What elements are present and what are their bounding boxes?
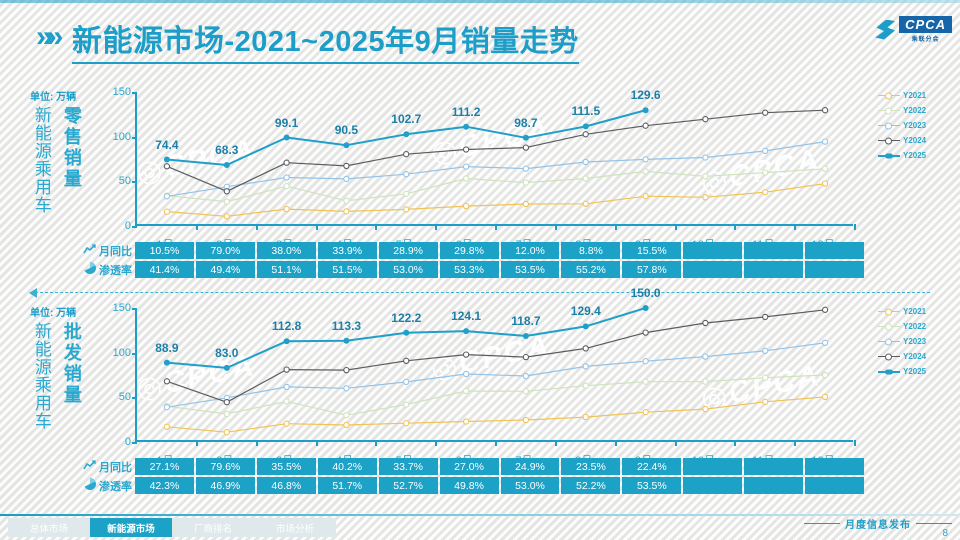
data-label-Y2025-1月: 74.4 <box>155 138 178 152</box>
legend-label-Y2021: Y2021 <box>903 91 926 100</box>
table-cell: 15.5% <box>622 242 681 259</box>
series-point-Y2025 <box>403 131 409 137</box>
series-point-Y2021 <box>164 209 169 214</box>
table-cell: 24.9% <box>501 458 560 475</box>
footer-tab-3[interactable]: 市场分析 <box>254 518 336 537</box>
table-cell: 33.7% <box>379 458 438 475</box>
table-cell: 41.4% <box>135 261 194 278</box>
series-point-Y2024 <box>763 314 768 319</box>
series-point-Y2023 <box>164 194 169 199</box>
line-chart-icon <box>83 244 96 258</box>
footer-tab-0[interactable]: 总体市场 <box>8 518 90 537</box>
series-point-Y2023 <box>823 340 828 345</box>
series-point-Y2024 <box>643 330 648 335</box>
series-point-Y2022 <box>583 176 588 181</box>
series-point-Y2021 <box>224 430 229 435</box>
series-point-Y2024 <box>643 123 648 128</box>
retail-chart: 05010015074.468.399.190.5102.7111.298.71… <box>105 84 865 239</box>
table-cell: 35.5% <box>257 458 316 475</box>
table-cell: 27.0% <box>440 458 499 475</box>
series-point-Y2025 <box>403 330 409 336</box>
series-point-Y2025 <box>643 107 649 113</box>
series-point-Y2025 <box>343 338 349 344</box>
series-point-Y2022 <box>643 379 648 384</box>
slide-footer: 总体市场新能源市场厂商排名市场分析 月度信息发布 8 <box>0 514 960 540</box>
table-cell <box>683 242 742 259</box>
legend-label-Y2024: Y2024 <box>903 352 926 361</box>
wholesale-data-table: 月同比27.1%79.6%35.5%40.2%33.7%27.0%24.9%23… <box>64 458 864 496</box>
series-point-Y2022 <box>823 166 828 171</box>
series-point-Y2024 <box>464 147 469 152</box>
series-point-Y2022 <box>404 402 409 407</box>
series-point-Y2023 <box>284 384 289 389</box>
y-tick-label: 50 <box>119 391 131 403</box>
legend-item-Y2025[interactable]: Y2025 <box>878 364 926 379</box>
y-tick-label: 150 <box>113 302 131 314</box>
y-tick-label: 100 <box>113 347 131 359</box>
data-label-Y2025-8月: 129.4 <box>571 304 601 318</box>
footer-tab-1[interactable]: 新能源市场 <box>90 518 172 537</box>
table-cell <box>683 261 742 278</box>
series-point-Y2025 <box>343 142 349 148</box>
page-title-primary: 新能源市场 <box>72 25 225 58</box>
series-point-Y2022 <box>344 413 349 418</box>
table-cell: 53.0% <box>379 261 438 278</box>
series-point-Y2025 <box>643 305 649 311</box>
series-point-Y2025 <box>284 135 290 141</box>
series-point-Y2021 <box>643 410 648 415</box>
series-point-Y2024 <box>164 379 169 384</box>
series-point-Y2025 <box>463 124 469 130</box>
series-point-Y2022 <box>224 411 229 416</box>
legend-swatch-Y2025 <box>878 155 900 157</box>
data-label-Y2025-6月: 111.2 <box>452 105 481 119</box>
series-point-Y2022 <box>284 184 289 189</box>
table-cell: 51.5% <box>318 261 377 278</box>
data-label-Y2025-6月: 124.1 <box>451 309 481 323</box>
legend-label-Y2022: Y2022 <box>903 322 926 331</box>
data-label-Y2025-9月: 150.0 <box>631 286 661 300</box>
cpca-logo-subtext: 乘联分会 <box>912 34 940 43</box>
series-point-Y2025 <box>523 135 529 141</box>
y-tick-label: 50 <box>119 175 131 187</box>
pie-chart-icon <box>84 478 96 493</box>
data-label-Y2025-2月: 83.0 <box>215 346 238 360</box>
series-point-Y2025 <box>164 360 170 366</box>
legend-item-Y2022[interactable]: Y2022 <box>878 319 926 334</box>
table-cell: 52.2% <box>561 477 620 494</box>
wholesale-vertical-label-metric: 批发销量 <box>62 322 81 406</box>
series-point-Y2021 <box>464 204 469 209</box>
footer-dash-right <box>916 523 952 524</box>
slide-header: »» 新能源市场-2021~2025年9月销量走势 CPCA 乘联分会 <box>0 6 960 62</box>
table-row: 月同比27.1%79.6%35.5%40.2%33.7%27.0%24.9%23… <box>64 458 864 475</box>
series-point-Y2024 <box>464 352 469 357</box>
retail-plot-area: 05010015074.468.399.190.5102.7111.298.71… <box>135 92 853 226</box>
series-point-Y2024 <box>284 367 289 372</box>
series-point-Y2022 <box>703 174 708 179</box>
wholesale-series-svg <box>137 308 855 442</box>
series-point-Y2021 <box>763 190 768 195</box>
series-point-Y2022 <box>643 169 648 174</box>
row-label-月同比: 月同比 <box>64 458 135 475</box>
series-point-Y2024 <box>763 110 768 115</box>
row-label-text: 月同比 <box>99 459 132 475</box>
table-cell: 23.5% <box>561 458 620 475</box>
legend-label-Y2023: Y2023 <box>903 337 926 346</box>
footer-tab-bar[interactable]: 总体市场新能源市场厂商排名市场分析 <box>8 518 336 537</box>
series-point-Y2025 <box>224 365 230 371</box>
table-cell: 40.2% <box>318 458 377 475</box>
legend-swatch-Y2023 <box>878 341 900 342</box>
page-title: 新能源市场-2021~2025年9月销量走势 <box>72 16 579 64</box>
series-point-Y2022 <box>583 383 588 388</box>
series-point-Y2021 <box>583 415 588 420</box>
table-cell: 46.8% <box>257 477 316 494</box>
data-label-Y2025-3月: 112.8 <box>272 319 301 333</box>
table-cell: 55.2% <box>561 261 620 278</box>
legend-item-Y2025[interactable]: Y2025 <box>878 148 926 163</box>
series-point-Y2024 <box>523 145 528 150</box>
row-label-渗透率: 渗透率 <box>64 477 135 494</box>
series-point-Y2025 <box>523 333 529 339</box>
wholesale-plot-area: 05010015088.983.0112.8113.3122.2124.1118… <box>135 308 853 442</box>
table-cell <box>683 458 742 475</box>
series-point-Y2022 <box>763 375 768 380</box>
series-line-Y2022 <box>167 169 825 202</box>
series-point-Y2021 <box>703 407 708 412</box>
table-cell: 33.9% <box>318 242 377 259</box>
legend-swatch-Y2024 <box>878 356 900 357</box>
double-chevron-right-icon: »» <box>36 20 57 54</box>
series-point-Y2024 <box>523 355 528 360</box>
series-point-Y2023 <box>643 157 648 162</box>
wholesale-legend: Y2021Y2022Y2023Y2024Y2025 <box>878 304 926 379</box>
table-cell: 46.9% <box>196 477 255 494</box>
series-point-Y2023 <box>823 139 828 144</box>
row-label-渗透率: 渗透率 <box>64 261 135 278</box>
series-point-Y2023 <box>464 371 469 376</box>
series-point-Y2023 <box>763 348 768 353</box>
legend-swatch-Y2022 <box>878 110 900 111</box>
table-cell: 53.0% <box>501 477 560 494</box>
table-cell: 27.1% <box>135 458 194 475</box>
table-cell <box>744 242 803 259</box>
table-cell <box>805 458 864 475</box>
panel-wholesale: 单位: 万辆新能源乘用车批发销量◎CPCA◎CPCA◎CPCA050100150… <box>0 300 960 500</box>
table-cell <box>805 477 864 494</box>
series-line-Y2023 <box>167 142 825 197</box>
data-label-Y2025-8月: 111.5 <box>571 104 600 118</box>
table-cell <box>744 477 803 494</box>
series-point-Y2024 <box>703 117 708 122</box>
series-point-Y2025 <box>284 338 290 344</box>
series-point-Y2023 <box>344 386 349 391</box>
panel-separator <box>30 292 930 293</box>
page-number: 8 <box>942 528 948 539</box>
row-label-月同比: 月同比 <box>64 242 135 259</box>
data-label-Y2025-4月: 90.5 <box>335 123 358 137</box>
table-cell: 53.5% <box>622 477 681 494</box>
series-point-Y2021 <box>404 207 409 212</box>
series-point-Y2025 <box>164 157 170 163</box>
series-point-Y2023 <box>583 364 588 369</box>
series-point-Y2024 <box>224 189 229 194</box>
y-tick-label: 150 <box>113 86 131 98</box>
series-point-Y2024 <box>344 163 349 168</box>
table-cell: 52.7% <box>379 477 438 494</box>
series-point-Y2021 <box>703 195 708 200</box>
series-point-Y2021 <box>763 399 768 404</box>
retail-vertical-label-metric: 零售销量 <box>62 106 81 190</box>
row-label-text: 渗透率 <box>99 262 132 278</box>
series-point-Y2023 <box>344 176 349 181</box>
legend-swatch-Y2021 <box>878 95 900 96</box>
table-cell: 29.8% <box>440 242 499 259</box>
series-point-Y2025 <box>583 123 589 129</box>
table-cell: 12.0% <box>501 242 560 259</box>
table-cell: 49.4% <box>196 261 255 278</box>
legend-label-Y2022: Y2022 <box>903 106 926 115</box>
header-top-rule <box>0 0 960 3</box>
table-cell: 51.1% <box>257 261 316 278</box>
series-point-Y2023 <box>523 373 528 378</box>
series-point-Y2022 <box>823 372 828 377</box>
table-cell: 28.9% <box>379 242 438 259</box>
series-point-Y2024 <box>284 160 289 165</box>
series-point-Y2025 <box>463 328 469 334</box>
series-point-Y2022 <box>464 176 469 181</box>
series-point-Y2023 <box>703 155 708 160</box>
series-point-Y2022 <box>523 389 528 394</box>
data-label-Y2025-9月: 129.6 <box>631 88 661 102</box>
table-cell: 53.3% <box>440 261 499 278</box>
series-point-Y2023 <box>284 175 289 180</box>
series-point-Y2021 <box>823 394 828 399</box>
legend-swatch-Y2023 <box>878 125 900 126</box>
series-point-Y2023 <box>404 172 409 177</box>
legend-item-Y2021[interactable]: Y2021 <box>878 304 926 319</box>
series-point-Y2023 <box>404 379 409 384</box>
series-point-Y2021 <box>404 421 409 426</box>
series-point-Y2024 <box>404 152 409 157</box>
table-cell <box>683 477 742 494</box>
legend-swatch-Y2021 <box>878 311 900 312</box>
data-label-Y2025-4月: 113.3 <box>332 319 361 333</box>
table-cell: 38.0% <box>257 242 316 259</box>
legend-item-Y2022[interactable]: Y2022 <box>878 103 926 118</box>
cpca-swoosh-icon <box>874 20 896 40</box>
series-point-Y2025 <box>583 323 589 329</box>
data-label-Y2025-2月: 68.3 <box>215 143 238 157</box>
table-row: 渗透率41.4%49.4%51.1%51.5%53.0%53.3%53.5%55… <box>64 261 864 278</box>
table-cell: 53.5% <box>501 261 560 278</box>
table-cell: 51.7% <box>318 477 377 494</box>
series-line-Y2024 <box>167 310 825 402</box>
legend-item-Y2024[interactable]: Y2024 <box>878 349 926 364</box>
footer-dash-left <box>804 523 840 524</box>
series-point-Y2022 <box>763 170 768 175</box>
wholesale-vertical-label-category: 新能源乘用车 <box>32 322 50 430</box>
table-cell: 49.8% <box>440 477 499 494</box>
table-cell: 57.8% <box>622 261 681 278</box>
table-row: 渗透率42.3%46.9%46.8%51.7%52.7%49.8%53.0%52… <box>64 477 864 494</box>
data-label-Y2025-5月: 122.2 <box>391 311 421 325</box>
page-title-secondary: -2021~2025年9月销量走势 <box>225 26 579 58</box>
series-point-Y2021 <box>344 209 349 214</box>
row-label-text: 渗透率 <box>99 478 132 494</box>
legend-item-Y2023[interactable]: Y2023 <box>878 334 926 349</box>
series-point-Y2021 <box>464 419 469 424</box>
table-cell: 79.0% <box>196 242 255 259</box>
retail-series-svg <box>137 92 855 226</box>
retail-vertical-label-category: 新能源乘用车 <box>32 106 50 214</box>
series-point-Y2022 <box>703 379 708 384</box>
series-point-Y2022 <box>404 191 409 196</box>
retail-unit-label: 单位: 万辆 <box>30 88 76 103</box>
legend-item-Y2023[interactable]: Y2023 <box>878 118 926 133</box>
series-point-Y2021 <box>164 424 169 429</box>
y-tick-mark <box>132 226 137 228</box>
legend-swatch-Y2024 <box>878 140 900 141</box>
series-point-Y2023 <box>523 166 528 171</box>
legend-label-Y2024: Y2024 <box>903 136 926 145</box>
data-label-Y2025-7月: 118.7 <box>511 314 540 328</box>
series-point-Y2024 <box>703 320 708 325</box>
retail-legend: Y2021Y2022Y2023Y2024Y2025 <box>878 88 926 163</box>
series-point-Y2023 <box>464 164 469 169</box>
series-point-Y2023 <box>763 148 768 153</box>
series-point-Y2021 <box>284 207 289 212</box>
legend-label-Y2025: Y2025 <box>903 151 926 160</box>
series-point-Y2024 <box>823 108 828 113</box>
series-point-Y2025 <box>224 162 230 168</box>
footer-brand-text: 月度信息发布 <box>845 516 911 531</box>
data-label-Y2025-1月: 88.9 <box>155 341 178 355</box>
table-cell: 42.3% <box>135 477 194 494</box>
series-point-Y2024 <box>164 164 169 169</box>
data-label-Y2025-7月: 98.7 <box>514 116 537 130</box>
table-cell: 8.8% <box>561 242 620 259</box>
series-point-Y2024 <box>823 307 828 312</box>
panel-retail: 单位: 万辆新能源乘用车零售销量◎CPCA◎CPCA◎CPCA050100150… <box>0 84 960 284</box>
series-point-Y2021 <box>523 417 528 422</box>
line-chart-icon <box>83 460 96 474</box>
series-point-Y2021 <box>583 201 588 206</box>
series-point-Y2022 <box>464 388 469 393</box>
cpca-logo-text: CPCA <box>899 16 952 33</box>
table-cell <box>744 458 803 475</box>
series-point-Y2021 <box>523 201 528 206</box>
y-tick-label: 100 <box>113 131 131 143</box>
legend-item-Y2021[interactable]: Y2021 <box>878 88 926 103</box>
series-point-Y2021 <box>284 421 289 426</box>
series-point-Y2022 <box>224 199 229 204</box>
y-tick-label: 0 <box>125 220 131 232</box>
table-cell: 10.5% <box>135 242 194 259</box>
retail-data-table: 月同比10.5%79.0%38.0%33.9%28.9%29.8%12.0%8.… <box>64 242 864 280</box>
cpca-logo: CPCA 乘联分会 <box>874 16 952 43</box>
series-point-Y2024 <box>224 400 229 405</box>
legend-swatch-Y2022 <box>878 326 900 327</box>
series-point-Y2024 <box>583 346 588 351</box>
series-point-Y2021 <box>224 214 229 219</box>
slide-root: »» 新能源市场-2021~2025年9月销量走势 CPCA 乘联分会 单位: … <box>0 0 960 540</box>
legend-label-Y2025: Y2025 <box>903 367 926 376</box>
wholesale-unit-label: 单位: 万辆 <box>30 304 76 319</box>
series-line-Y2023 <box>167 343 825 407</box>
data-label-Y2025-3月: 99.1 <box>275 116 298 130</box>
table-cell <box>744 261 803 278</box>
table-cell <box>805 261 864 278</box>
table-row: 月同比10.5%79.0%38.0%33.9%28.9%29.8%12.0%8.… <box>64 242 864 259</box>
legend-swatch-Y2025 <box>878 371 900 373</box>
footer-brand: 月度信息发布 <box>804 516 952 531</box>
series-point-Y2024 <box>583 132 588 137</box>
series-point-Y2022 <box>284 399 289 404</box>
series-point-Y2021 <box>643 194 648 199</box>
footer-tab-2[interactable]: 厂商排名 <box>172 518 254 537</box>
series-point-Y2023 <box>583 159 588 164</box>
table-cell <box>805 242 864 259</box>
series-line-Y2021 <box>167 184 825 217</box>
wholesale-chart: 05010015088.983.0112.8113.3122.2124.1118… <box>105 300 865 455</box>
legend-item-Y2024[interactable]: Y2024 <box>878 133 926 148</box>
series-point-Y2023 <box>703 354 708 359</box>
pie-chart-icon <box>84 262 96 277</box>
series-point-Y2022 <box>523 180 528 185</box>
series-line-Y2021 <box>167 397 825 432</box>
series-point-Y2023 <box>164 405 169 410</box>
series-line-Y2024 <box>167 110 825 191</box>
legend-label-Y2021: Y2021 <box>903 307 926 316</box>
table-cell: 79.6% <box>196 458 255 475</box>
row-label-text: 月同比 <box>99 243 132 259</box>
series-point-Y2021 <box>344 422 349 427</box>
series-point-Y2023 <box>643 359 648 364</box>
series-point-Y2024 <box>344 368 349 373</box>
table-cell: 22.4% <box>622 458 681 475</box>
series-point-Y2024 <box>404 358 409 363</box>
y-tick-label: 0 <box>125 436 131 448</box>
series-point-Y2021 <box>823 181 828 186</box>
y-tick-mark <box>132 442 137 444</box>
data-label-Y2025-5月: 102.7 <box>391 112 421 126</box>
series-point-Y2022 <box>344 198 349 203</box>
legend-label-Y2023: Y2023 <box>903 121 926 130</box>
